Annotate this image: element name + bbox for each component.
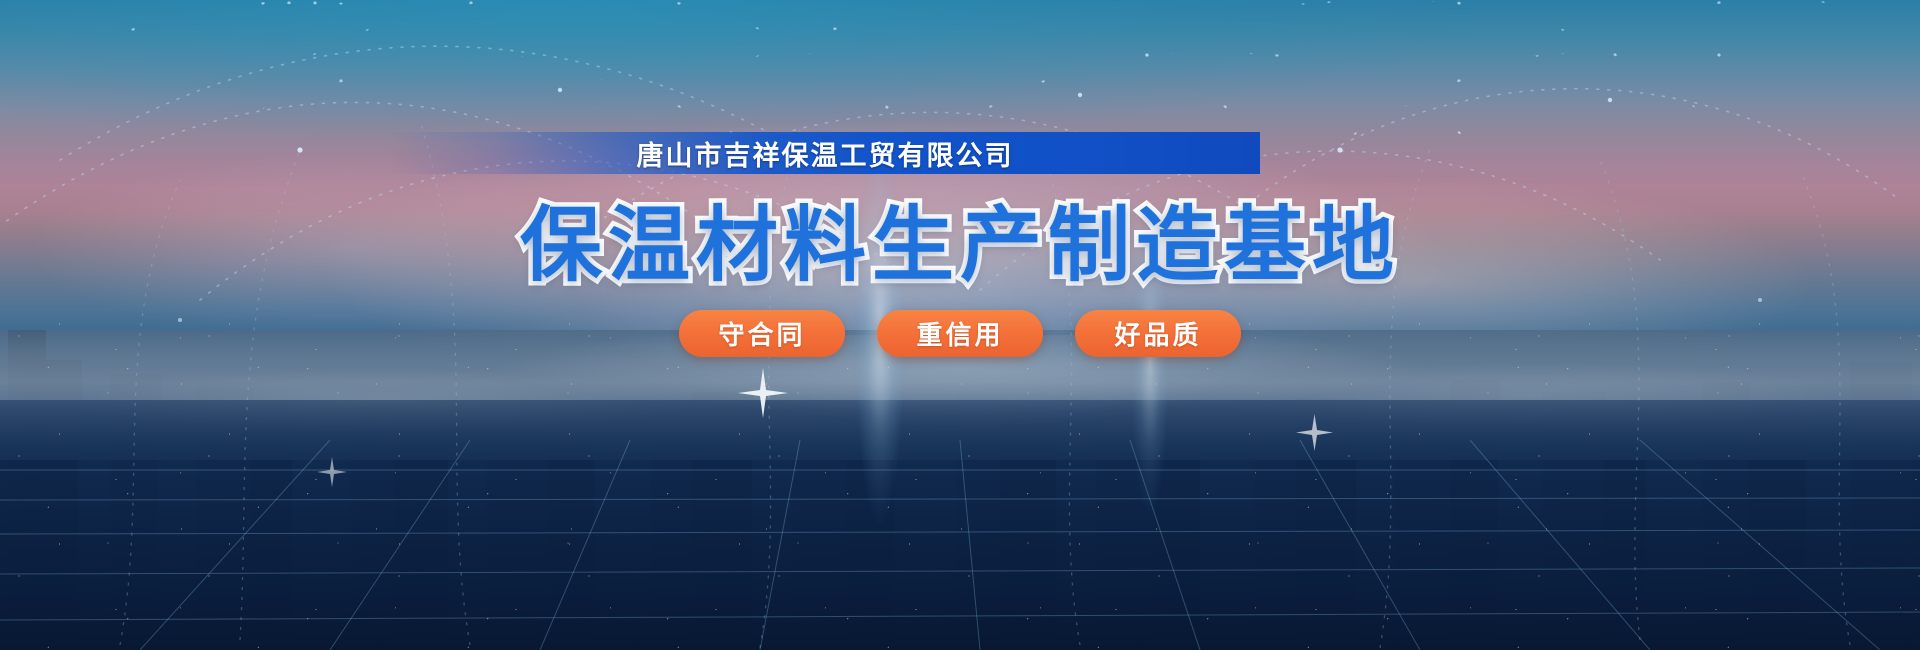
company-name-band: 唐山市吉祥保温工贸有限公司 [390, 132, 1260, 174]
badge-pill-contract[interactable]: 守合同 [679, 310, 845, 357]
banner-content: 唐山市吉祥保温工贸有限公司 保温材料生产制造基地 守合同 重信用 好品质 [0, 0, 1920, 650]
badge-label: 守合同 [718, 315, 805, 352]
badge-row: 守合同 重信用 好品质 [0, 310, 1920, 357]
page-title: 保温材料生产制造基地 [520, 178, 1400, 297]
company-name: 唐山市吉祥保温工贸有限公司 [637, 134, 1014, 173]
badge-label: 重信用 [916, 315, 1003, 352]
badge-label: 好品质 [1114, 315, 1201, 352]
badge-pill-quality[interactable]: 好品质 [1075, 310, 1241, 357]
hero-banner: 唐山市吉祥保温工贸有限公司 保温材料生产制造基地 守合同 重信用 好品质 [0, 0, 1920, 650]
headline-row: 保温材料生产制造基地 [0, 178, 1920, 268]
badge-pill-credit[interactable]: 重信用 [877, 310, 1043, 357]
